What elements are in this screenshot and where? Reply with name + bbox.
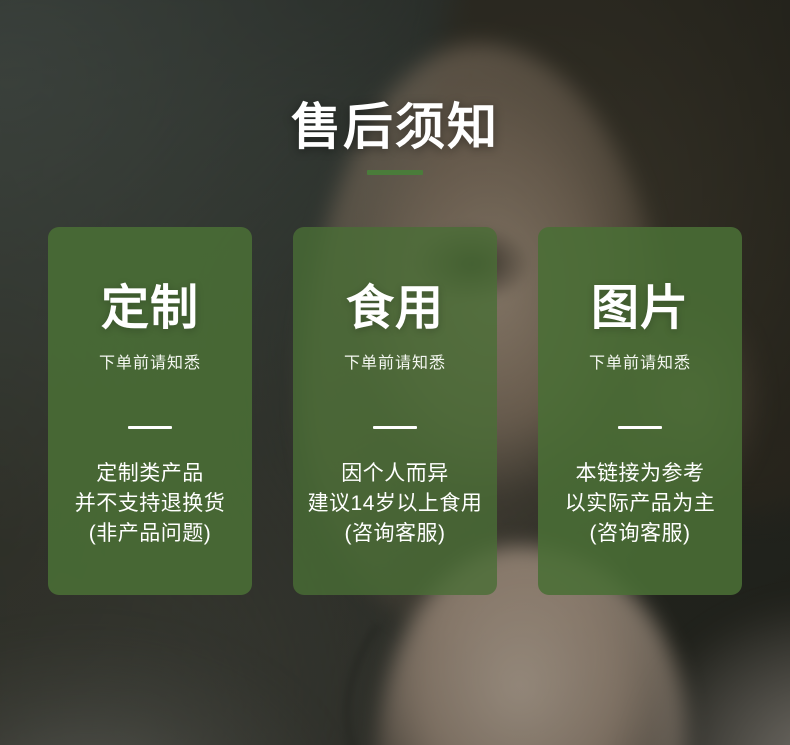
- after-sales-notice-banner: 售后须知 定制 下单前请知悉 定制类产品 并不支持退换货 (非产品问题) 食用 …: [0, 0, 790, 745]
- card-subtitle: 下单前请知悉: [293, 334, 497, 373]
- card-body: 本链接为参考 以实际产品为主 (咨询客服): [538, 429, 742, 549]
- banner-content: 售后须知 定制 下单前请知悉 定制类产品 并不支持退换货 (非产品问题) 食用 …: [0, 0, 790, 745]
- card-body: 定制类产品 并不支持退换货 (非产品问题): [48, 429, 252, 549]
- notice-card-customization: 定制 下单前请知悉 定制类产品 并不支持退换货 (非产品问题): [48, 227, 252, 595]
- card-body-line: 以实际产品为主: [538, 489, 742, 519]
- card-body-line: 定制类产品: [48, 459, 252, 489]
- notice-card-consumption: 食用 下单前请知悉 因个人而异 建议14岁以上食用 (咨询客服): [293, 227, 497, 595]
- card-heading: 定制: [48, 227, 252, 334]
- title-divider: [367, 170, 423, 175]
- card-body-line: (咨询客服): [538, 519, 742, 549]
- card-body-line: 建议14岁以上食用: [293, 489, 497, 519]
- card-body: 因个人而异 建议14岁以上食用 (咨询客服): [293, 429, 497, 549]
- notice-card-list: 定制 下单前请知悉 定制类产品 并不支持退换货 (非产品问题) 食用 下单前请知…: [48, 227, 742, 595]
- card-subtitle: 下单前请知悉: [538, 334, 742, 373]
- page-title: 售后须知: [0, 102, 790, 152]
- card-subtitle: 下单前请知悉: [48, 334, 252, 373]
- card-body-line: (咨询客服): [293, 519, 497, 549]
- card-body-line: 并不支持退换货: [48, 489, 252, 519]
- card-body-line: (非产品问题): [48, 519, 252, 549]
- card-body-line: 本链接为参考: [538, 459, 742, 489]
- card-heading: 图片: [538, 227, 742, 334]
- card-heading: 食用: [293, 227, 497, 334]
- notice-card-images: 图片 下单前请知悉 本链接为参考 以实际产品为主 (咨询客服): [538, 227, 742, 595]
- card-body-line: 因个人而异: [293, 459, 497, 489]
